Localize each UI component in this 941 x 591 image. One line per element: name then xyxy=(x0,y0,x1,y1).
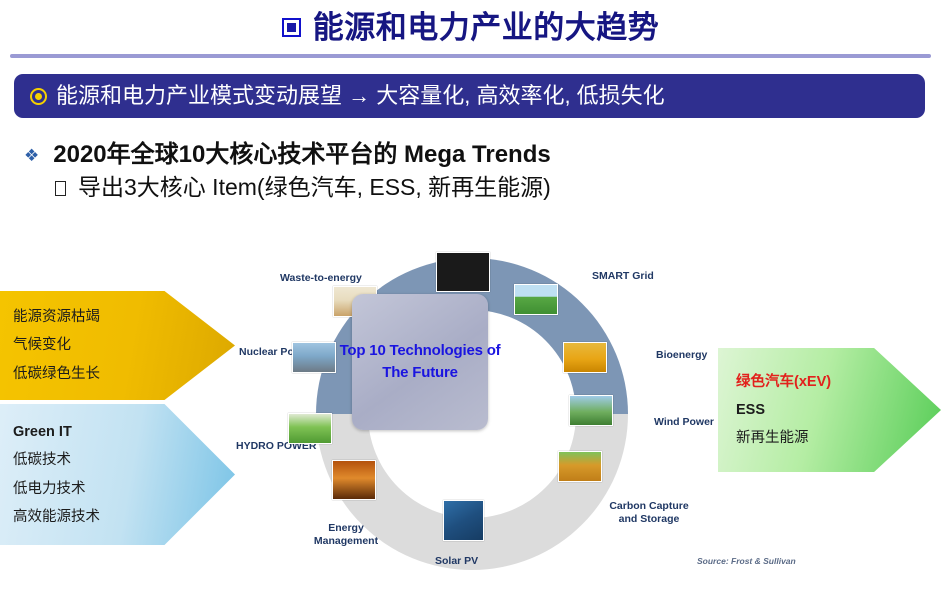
bullet-level1-text: 2020年全球10大核心技术平台的 Mega Trends xyxy=(53,140,550,170)
technologies-arrow-line-4: 高效能源技术 xyxy=(13,503,235,531)
ring-label-bioenergy: Bioenergy xyxy=(656,349,707,362)
filled-square-icon xyxy=(282,18,301,37)
outcomes-arrow: 绿色汽车(xEV) ESS 新再生能源 xyxy=(718,348,941,472)
bullet-level2: 导出3大核心 Item(绿色汽车, ESS, 新再生能源) xyxy=(24,173,744,202)
ring-label-carbon-capture: Carbon Capture and Storage xyxy=(594,500,704,525)
ring-label-wind-power: Wind Power xyxy=(654,416,714,429)
title-divider xyxy=(10,54,931,58)
solar-pv-thumb xyxy=(443,500,484,541)
bullet-level1: ❖ 2020年全球10大核心技术平台的 Mega Trends xyxy=(24,140,744,170)
drivers-arrow-line-3: 低碳绿色生长 xyxy=(13,360,235,388)
page-title-text: 能源和电力产业的大趋势 xyxy=(313,12,660,43)
bioenergy-thumb xyxy=(563,342,607,373)
slide-canvas: 能源和电力产业的大趋势 能源和电力产业模式变动展望 → 大容量化, 高效率化, … xyxy=(0,0,941,591)
drivers-arrow-line-2: 气候变化 xyxy=(13,331,235,359)
ring-label-energy-management: Energy Management xyxy=(301,522,391,547)
bullet-level2-text: 导出3大核心 Item(绿色汽车, ESS, 新再生能源) xyxy=(78,173,551,202)
subtitle-banner: 能源和电力产业模式变动展望 → 大容量化, 高效率化, 低损失化 xyxy=(14,74,925,118)
diagram-center-box: Top 10 Technologies of The Future xyxy=(352,294,488,430)
diagram-center-line-1: Top 10 Technologies of xyxy=(340,340,501,363)
nuclear-plant-thumb xyxy=(292,342,336,373)
bullet-block: ❖ 2020年全球10大核心技术平台的 Mega Trends 导出3大核心 I… xyxy=(24,140,744,202)
outcomes-arrow-line-2: ESS xyxy=(736,396,941,424)
drivers-arrow-line-1: 能源资源枯竭 xyxy=(13,303,235,331)
subtitle-banner-text: 能源和电力产业模式变动展望 → 大容量化, 高效率化, 低损失化 xyxy=(56,85,665,107)
top10-technologies-diagram: Top 10 Technologies of The Future Waste-… xyxy=(236,252,706,582)
page-title: 能源和电力产业的大趋势 xyxy=(0,4,941,50)
ring-label-carbon-capture-line1: Carbon Capture xyxy=(609,500,688,512)
hydrogen-station-thumb xyxy=(436,252,490,292)
target-circle-icon xyxy=(30,88,47,105)
ring-label-waste-to-energy: Waste-to-energy xyxy=(280,272,362,285)
smart-grid-thumb xyxy=(514,284,558,315)
outcomes-arrow-line-3: 新再生能源 xyxy=(736,424,941,452)
source-note: Source: Frost & Sullivan xyxy=(697,556,796,566)
ring-label-energy-management-line2: Management xyxy=(314,535,378,547)
technologies-arrow-line-1: Green IT xyxy=(13,418,235,446)
outcomes-arrow-line-1: 绿色汽车(xEV) xyxy=(736,368,941,396)
diamond-bullet-icon: ❖ xyxy=(24,147,39,164)
technologies-arrow-line-3: 低电力技术 xyxy=(13,475,235,503)
hydro-dam-thumb xyxy=(288,413,332,444)
wind-farm-thumb xyxy=(569,395,613,426)
drivers-arrow: 能源资源枯竭 气候变化 低碳绿色生长 xyxy=(0,291,235,400)
ring-label-carbon-capture-line2: and Storage xyxy=(619,513,680,525)
ring-label-energy-management-line1: Energy xyxy=(328,522,364,534)
diagram-center-line-2: The Future xyxy=(382,362,458,385)
technologies-arrow: Green IT 低碳技术 低电力技术 高效能源技术 xyxy=(0,404,235,545)
technologies-arrow-line-2: 低碳技术 xyxy=(13,446,235,474)
ring-label-solar-pv: Solar PV xyxy=(435,555,478,568)
hollow-box-bullet-icon xyxy=(55,181,66,196)
ring-label-smart-grid: SMART Grid xyxy=(592,270,654,283)
carbon-capture-thumb xyxy=(558,451,602,482)
energy-management-thumb xyxy=(332,460,376,500)
